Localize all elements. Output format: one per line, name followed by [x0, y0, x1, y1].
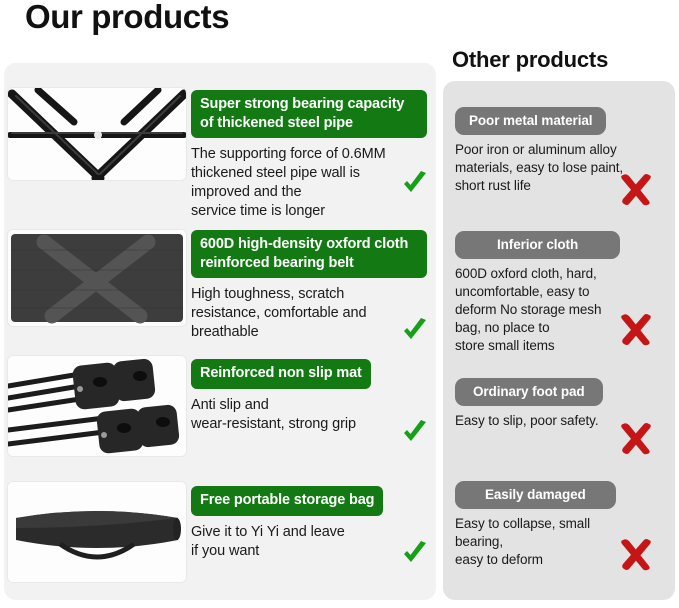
our-product-content-1: Super strong bearing capacity of thicken…: [191, 90, 427, 222]
check-icon: [400, 316, 430, 346]
foot-pad-illustration: [8, 356, 186, 456]
our-product-description-2: High toughness, scratch resistance, comf…: [191, 285, 427, 342]
oxford-cloth-photo: [8, 230, 186, 326]
cross-icon: [618, 171, 654, 207]
other-product-title-2: Inferior cloth: [455, 231, 620, 259]
check-icon: [400, 169, 430, 199]
check-icon: [400, 418, 430, 448]
our-product-content-2: 600D high-density oxford cloth reinforce…: [191, 230, 427, 342]
check-icon: [400, 539, 430, 569]
storage-bag-illustration: [8, 482, 186, 582]
cross-icon: [618, 420, 654, 456]
cross-icon: [618, 311, 654, 347]
other-products-heading: Other products: [452, 47, 608, 73]
our-product-content-3: Reinforced non slip mat Anti slip and we…: [191, 359, 427, 434]
oxford-cloth-illustration: [8, 230, 186, 326]
other-product-row-4: Easily damaged Easy to collapse, small b…: [455, 481, 679, 569]
our-product-description-4: Give it to Yi Yi and leave if you want: [191, 523, 427, 561]
foot-pad-photo: [8, 356, 186, 456]
steel-pipe-frame-illustration: [8, 88, 186, 180]
our-product-banner-2: 600D high-density oxford cloth reinforce…: [191, 230, 427, 278]
our-products-heading: Our products: [25, 0, 229, 36]
our-product-banner-1: Super strong bearing capacity of thicken…: [191, 90, 427, 138]
other-product-row-2: Inferior cloth 600D oxford cloth, hard, …: [455, 231, 679, 355]
other-product-title-1: Poor metal material: [455, 107, 606, 135]
other-product-title-3: Ordinary foot pad: [455, 378, 603, 406]
our-product-description-3: Anti slip and wear-resistant, strong gri…: [191, 396, 427, 434]
our-product-content-4: Free portable storage bag Give it to Yi …: [191, 486, 427, 561]
storage-bag-photo: [8, 482, 186, 582]
our-product-banner-4: Free portable storage bag: [191, 486, 383, 516]
cross-icon: [618, 536, 654, 572]
other-product-title-4: Easily damaged: [455, 481, 616, 509]
our-product-description-1: The supporting force of 0.6MM thickened …: [191, 145, 427, 222]
steel-pipe-frame-photo: [8, 88, 186, 180]
other-product-row-1: Poor metal material Poor iron or aluminu…: [455, 107, 679, 195]
other-product-row-3: Ordinary foot pad Easy to slip, poor saf…: [455, 378, 679, 430]
our-product-banner-3: Reinforced non slip mat: [191, 359, 371, 389]
